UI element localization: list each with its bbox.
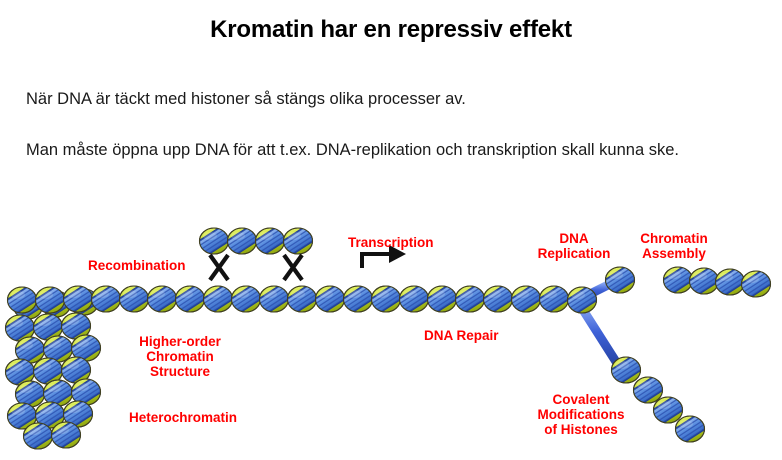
label-recombination: Recombination [88, 258, 186, 273]
recombination-x-left [210, 255, 228, 280]
label-chromatin-assembly: Chromatin Assembly [626, 231, 722, 261]
label-dna-repair: DNA Repair [424, 328, 499, 343]
label-transcription: Transcription [348, 235, 434, 250]
page-title: Kromatin har en repressiv effekt [0, 16, 782, 44]
chromatin-diagram: Recombination Transcription DNA Replicat… [0, 200, 782, 460]
slide-canvas: Kromatin har en repressiv effekt När DNA… [0, 0, 782, 460]
recombination-nucleosome-chain [193, 223, 320, 259]
body-text-line-1: När DNA är täckt med histoner så stängs … [26, 90, 466, 109]
label-higher-order-chromatin-structure: Higher-order Chromatin Structure [124, 334, 236, 379]
body-text-line-2: Man måste öppna upp DNA för att t.ex. DN… [26, 141, 679, 160]
label-dna-replication: DNA Replication [531, 231, 617, 261]
recombination-x-right [284, 255, 302, 280]
label-covalent-modifications-of-histones: Covalent Modifications of Histones [522, 392, 640, 437]
label-heterochromatin: Heterochromatin [129, 410, 237, 425]
